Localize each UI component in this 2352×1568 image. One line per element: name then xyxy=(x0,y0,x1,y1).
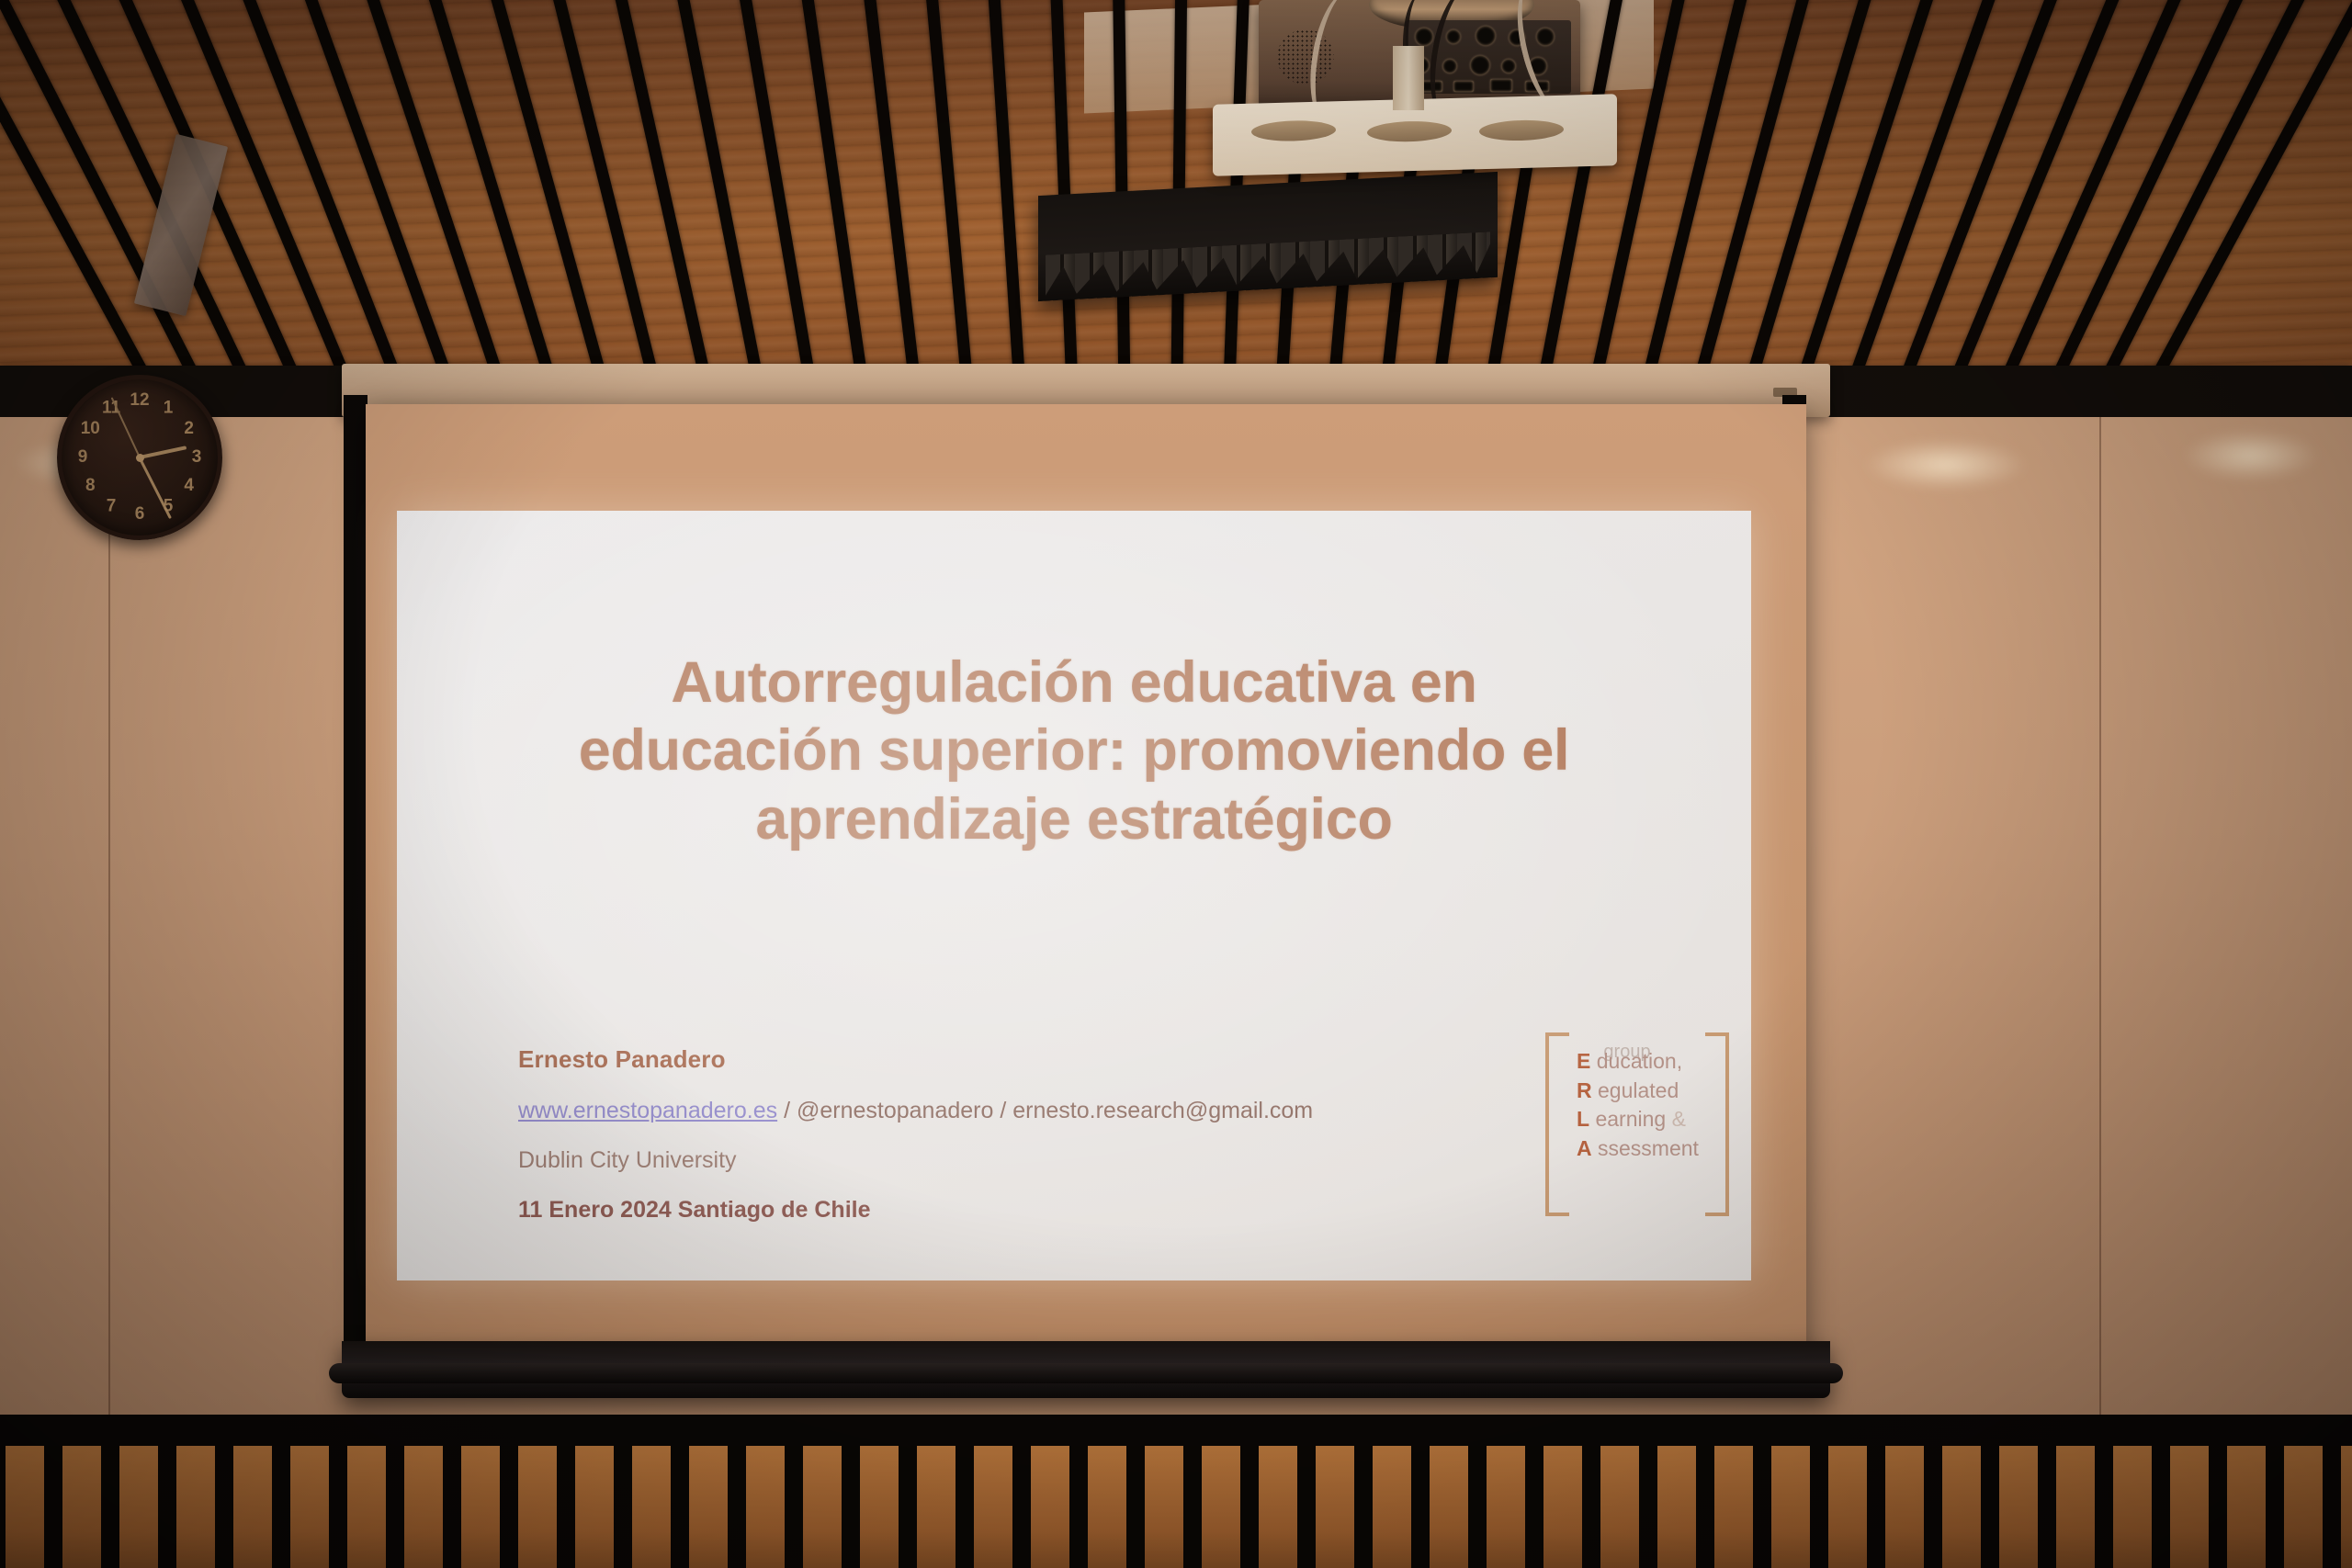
wall-slat xyxy=(632,1446,671,1568)
ceiling-slat xyxy=(1924,0,2153,386)
clock-center-pin xyxy=(136,454,144,462)
erla-group-logo: E ducation,R egulatedL earning &A ssessm… xyxy=(1545,1032,1729,1216)
contact-separator-2: / xyxy=(993,1098,1012,1123)
wall-slat xyxy=(2113,1446,2152,1568)
slide-author-block: Ernesto Panadero www.ernestopanadero.es … xyxy=(518,1045,1345,1224)
wall-slat xyxy=(689,1446,728,1568)
mount-plate-hole xyxy=(1479,119,1564,141)
wall-light-reflection xyxy=(2182,430,2320,481)
wall-slat xyxy=(1202,1446,1240,1568)
wall-slat xyxy=(1885,1446,1924,1568)
wall-slat xyxy=(119,1446,158,1568)
logo-text-lines: E ducation,R egulatedL earning &A ssessm… xyxy=(1577,1047,1714,1164)
wall-slat xyxy=(1999,1446,2038,1568)
ceiling-mounted-projector xyxy=(1213,0,1617,202)
author-name: Ernesto Panadero xyxy=(518,1045,1345,1074)
date-and-place: 11 Enero 2024 Santiago de Chile xyxy=(518,1197,1345,1224)
logo-initial: R xyxy=(1577,1078,1592,1102)
projector-mount-arm xyxy=(1393,46,1424,110)
clock-number: 1 xyxy=(157,397,179,419)
website-link[interactable]: www.ernestopanadero.es xyxy=(518,1098,777,1123)
wall-slat xyxy=(2341,1446,2352,1568)
wall-slat xyxy=(1543,1446,1582,1568)
logo-line: A ssessment xyxy=(1577,1134,1714,1164)
slide-title: Autorregulación educativa en educación s… xyxy=(452,649,1696,853)
logo-line: L earning & xyxy=(1577,1105,1714,1134)
wall-slat xyxy=(2056,1446,2095,1568)
wall-slat xyxy=(1714,1446,1753,1568)
wall-slat xyxy=(62,1446,101,1568)
wall-slat xyxy=(1657,1446,1696,1568)
clock-number: 9 xyxy=(72,446,94,468)
wall-slat xyxy=(1828,1446,1867,1568)
logo-word: earning xyxy=(1589,1107,1672,1131)
panel-seam xyxy=(2099,417,2101,1415)
logo-bracket-left-icon xyxy=(1545,1032,1569,1216)
social-handle: @ernestopanadero xyxy=(797,1098,993,1123)
wall-clock: 121234567891011 xyxy=(57,375,222,540)
email-address: ernesto.research@gmail.com xyxy=(1012,1098,1313,1123)
wall-slat xyxy=(1373,1446,1411,1568)
logo-initial: A xyxy=(1577,1136,1592,1160)
clock-hour-hand xyxy=(140,446,187,459)
projected-slide: Autorregulación educativa en educación s… xyxy=(397,511,1751,1280)
wooden-slat-ceiling xyxy=(0,0,2352,386)
panel-seam xyxy=(108,417,110,1415)
wall-slat xyxy=(6,1446,44,1568)
contact-separator-1: / xyxy=(777,1098,797,1123)
clock-number: 12 xyxy=(129,389,151,412)
wall-slat xyxy=(1316,1446,1354,1568)
projector-port xyxy=(1490,79,1512,92)
wall-slat xyxy=(575,1446,614,1568)
contact-line: www.ernestopanadero.es / @ernestopanader… xyxy=(518,1098,1345,1124)
screen-left-edge xyxy=(344,395,367,1369)
clock-number: 10 xyxy=(79,418,101,440)
wall-slat xyxy=(1259,1446,1297,1568)
slide-title-line-2: educación superior: promoviendo el xyxy=(452,716,1696,784)
wall-slat xyxy=(974,1446,1012,1568)
logo-initial: E xyxy=(1577,1049,1590,1073)
slide-title-line-1: Autorregulación educativa en xyxy=(452,649,1696,716)
wall-slat xyxy=(461,1446,500,1568)
ceiling-slat xyxy=(2129,0,2352,386)
affiliation: Dublin City University xyxy=(518,1147,1345,1174)
wall-slat xyxy=(290,1446,329,1568)
wall-slat xyxy=(518,1446,557,1568)
logo-word: ssessment xyxy=(1592,1136,1699,1160)
wall-slat xyxy=(1088,1446,1126,1568)
lecture-hall-photo: 121234567891011 Autorregulación educativ… xyxy=(0,0,2352,1568)
wall-slat xyxy=(1600,1446,1639,1568)
wall-slat xyxy=(2284,1446,2323,1568)
clock-number: 4 xyxy=(178,475,200,497)
wall-light-reflection xyxy=(1863,439,2029,491)
clock-number: 3 xyxy=(186,446,208,468)
lower-dark-band xyxy=(0,1415,2352,1446)
wall-slat xyxy=(176,1446,215,1568)
projector-port xyxy=(1501,59,1516,73)
wall-slat xyxy=(1487,1446,1525,1568)
logo-initial: L xyxy=(1577,1107,1589,1131)
clock-number: 8 xyxy=(79,475,101,497)
logo-ampersand: & xyxy=(1672,1107,1686,1131)
wall-slat xyxy=(746,1446,785,1568)
ceiling-slat xyxy=(661,0,782,386)
wall-slat xyxy=(2227,1446,2266,1568)
wall-slat xyxy=(917,1446,955,1568)
wall-slat xyxy=(803,1446,842,1568)
logo-line: E ducation, xyxy=(1577,1047,1714,1077)
wall-slat xyxy=(1430,1446,1468,1568)
ceiling-slat xyxy=(983,0,1032,386)
wall-slat xyxy=(404,1446,443,1568)
lower-slat-wall xyxy=(0,1415,2352,1568)
wall-slat xyxy=(2170,1446,2209,1568)
mount-plate-hole xyxy=(1367,120,1452,142)
projection-screen-weight-bar[interactable] xyxy=(342,1341,1830,1398)
logo-word: ducation, xyxy=(1590,1049,1682,1073)
wall-slat xyxy=(860,1446,899,1568)
clock-number: 6 xyxy=(129,503,151,525)
logo-line: R egulated xyxy=(1577,1077,1714,1106)
wall-slat xyxy=(1942,1446,1981,1568)
ceiling-slat xyxy=(854,0,933,386)
wall-slat xyxy=(1771,1446,1810,1568)
ceiling-slat xyxy=(597,0,732,386)
logo-word: egulated xyxy=(1592,1078,1679,1102)
clock-number: 7 xyxy=(100,496,122,518)
slide-title-line-3: aprendizaje estratégico xyxy=(452,785,1696,853)
wall-slat xyxy=(1031,1446,1069,1568)
wall-slat xyxy=(233,1446,272,1568)
wall-slat xyxy=(347,1446,386,1568)
clock-number: 2 xyxy=(178,418,200,440)
mount-plate-hole xyxy=(1251,119,1336,141)
ceiling-slat xyxy=(919,0,982,386)
wall-slat xyxy=(1145,1446,1183,1568)
